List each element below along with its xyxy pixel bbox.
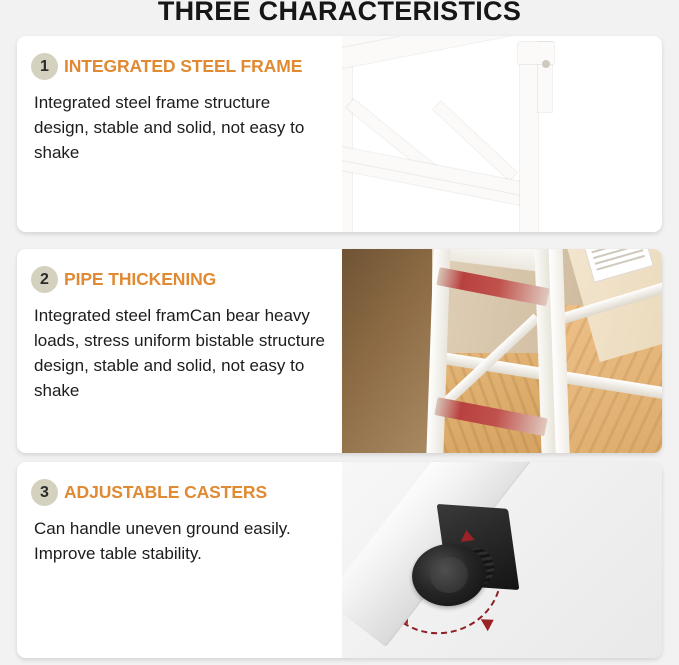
adjustable-caster-image — [342, 462, 662, 658]
thick-pipe-image — [342, 249, 662, 453]
feature-number-badge-2: 2 — [31, 266, 58, 293]
feature-body-2: Integrated steel framCan bear heavy load… — [31, 299, 328, 403]
feature-card-3-text: 3 ADJUSTABLE CASTERS Can handle uneven g… — [17, 462, 342, 658]
feature-number-badge-1: 1 — [31, 53, 58, 80]
product-feature-infographic: THREE CHARACTERISTICS 1 INTEGRATED STEEL… — [0, 0, 679, 665]
feature-heading-1: INTEGRATED STEEL FRAME — [64, 56, 302, 77]
feature-card-2: 2 PIPE THICKENING Integrated steel framC… — [17, 249, 662, 453]
feature-body-3: Can handle uneven ground easily. Improve… — [31, 512, 328, 566]
feature-card-2-header: 2 PIPE THICKENING — [31, 266, 328, 293]
rotation-arrow-head-top-icon — [459, 529, 474, 542]
feature-heading-3: ADJUSTABLE CASTERS — [64, 482, 267, 503]
caster-illustration — [342, 462, 662, 658]
feature-card-2-text: 2 PIPE THICKENING Integrated steel framC… — [17, 249, 342, 453]
frame-bolt-hole — [542, 60, 550, 68]
steel-frame-illustration — [342, 36, 662, 232]
rotation-arrow-head-bottom-right-icon — [481, 614, 498, 632]
feature-number-badge-3: 3 — [31, 479, 58, 506]
desk-leg-illustration — [342, 249, 662, 453]
feature-card-1: 1 INTEGRATED STEEL FRAME Integrated stee… — [17, 36, 662, 232]
steel-frame-image — [342, 36, 662, 232]
page-title: THREE CHARACTERISTICS — [0, 0, 679, 28]
feature-card-1-header: 1 INTEGRATED STEEL FRAME — [31, 53, 328, 80]
feature-card-3-header: 3 ADJUSTABLE CASTERS — [31, 479, 328, 506]
feature-card-1-text: 1 INTEGRATED STEEL FRAME Integrated stee… — [17, 36, 342, 232]
feature-card-3: 3 ADJUSTABLE CASTERS Can handle uneven g… — [17, 462, 662, 658]
feature-heading-2: PIPE THICKENING — [64, 269, 216, 290]
room-side-wall — [342, 249, 432, 453]
feature-body-1: Integrated steel frame structure design,… — [31, 86, 328, 165]
frame-right-post — [520, 48, 538, 232]
